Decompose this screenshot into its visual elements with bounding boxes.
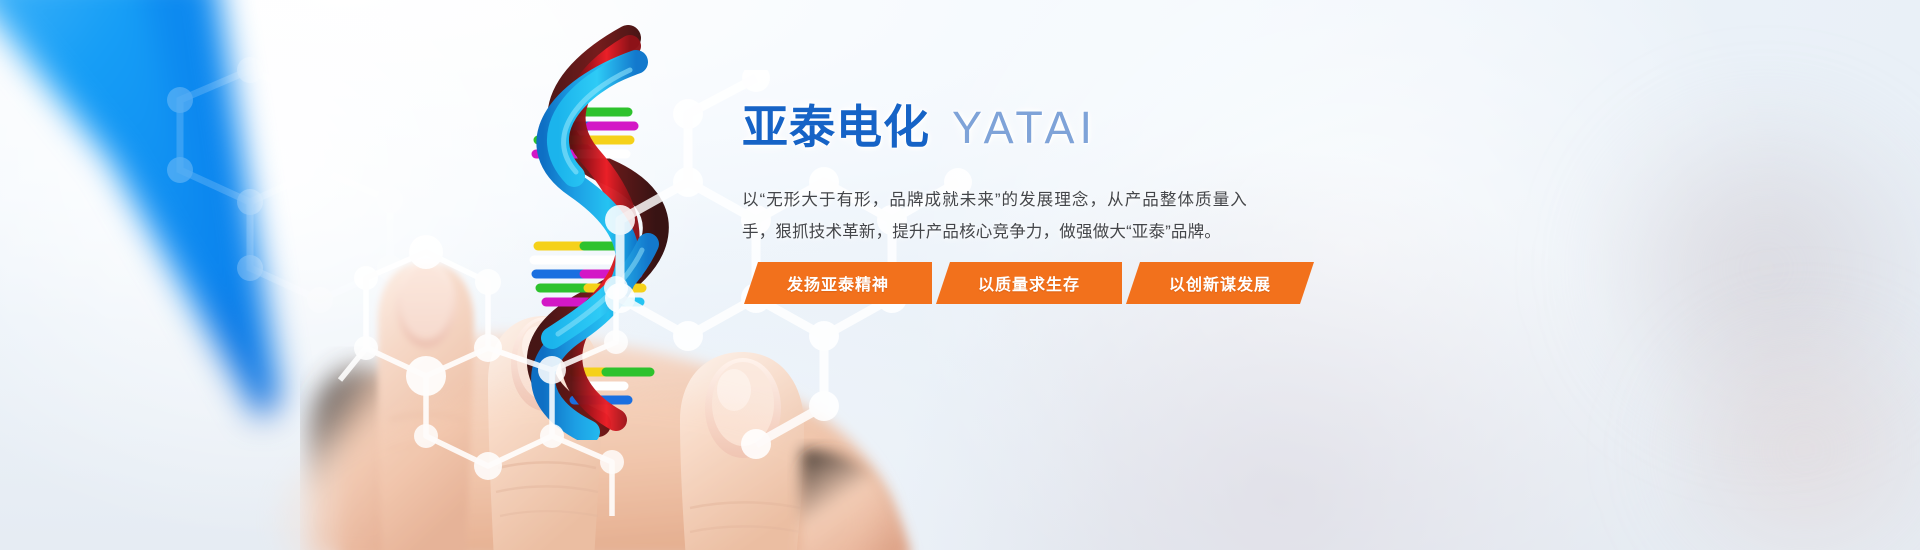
background-glow-left <box>0 0 720 540</box>
slogan-tag-3-label: 以创新谋发展 <box>1169 271 1271 295</box>
title-chinese: 亚泰电化 <box>742 101 930 153</box>
blue-diagonal-wedge <box>0 0 380 440</box>
molecule-lattice-far-icon <box>120 40 480 360</box>
banner-description: 以“无形大于有形，品牌成就未来”的发展理念，从产品整体质量入手，狠抓技术革新，提… <box>742 184 1247 248</box>
molecule-node-link-icon <box>330 230 750 530</box>
dna-helix-illustration <box>478 20 708 440</box>
blurred-figure-lower <box>1640 300 1920 550</box>
slogan-tag-list: 发扬亚泰精神 以质量求生存 以创新谋发展 <box>744 262 1314 304</box>
page-title: 亚泰电化YATAI <box>742 104 1502 150</box>
slogan-tag-1[interactable]: 发扬亚泰精神 <box>744 262 932 304</box>
slogan-tag-3[interactable]: 以创新谋发展 <box>1126 262 1314 304</box>
title-english: YATAI <box>952 102 1097 153</box>
slogan-tag-1-label: 发扬亚泰精神 <box>787 271 889 295</box>
slogan-tag-2-label: 以质量求生存 <box>978 271 1080 295</box>
banner-text-block: 亚泰电化YATAI 以“无形大于有形，品牌成就未来”的发展理念，从产品整体质量入… <box>742 104 1502 248</box>
slogan-tag-2[interactable]: 以质量求生存 <box>936 262 1122 304</box>
blurred-figure-background <box>1560 80 1920 550</box>
promo-banner: 亚泰电化YATAI 以“无形大于有形，品牌成就未来”的发展理念，从产品整体质量入… <box>0 0 1920 550</box>
